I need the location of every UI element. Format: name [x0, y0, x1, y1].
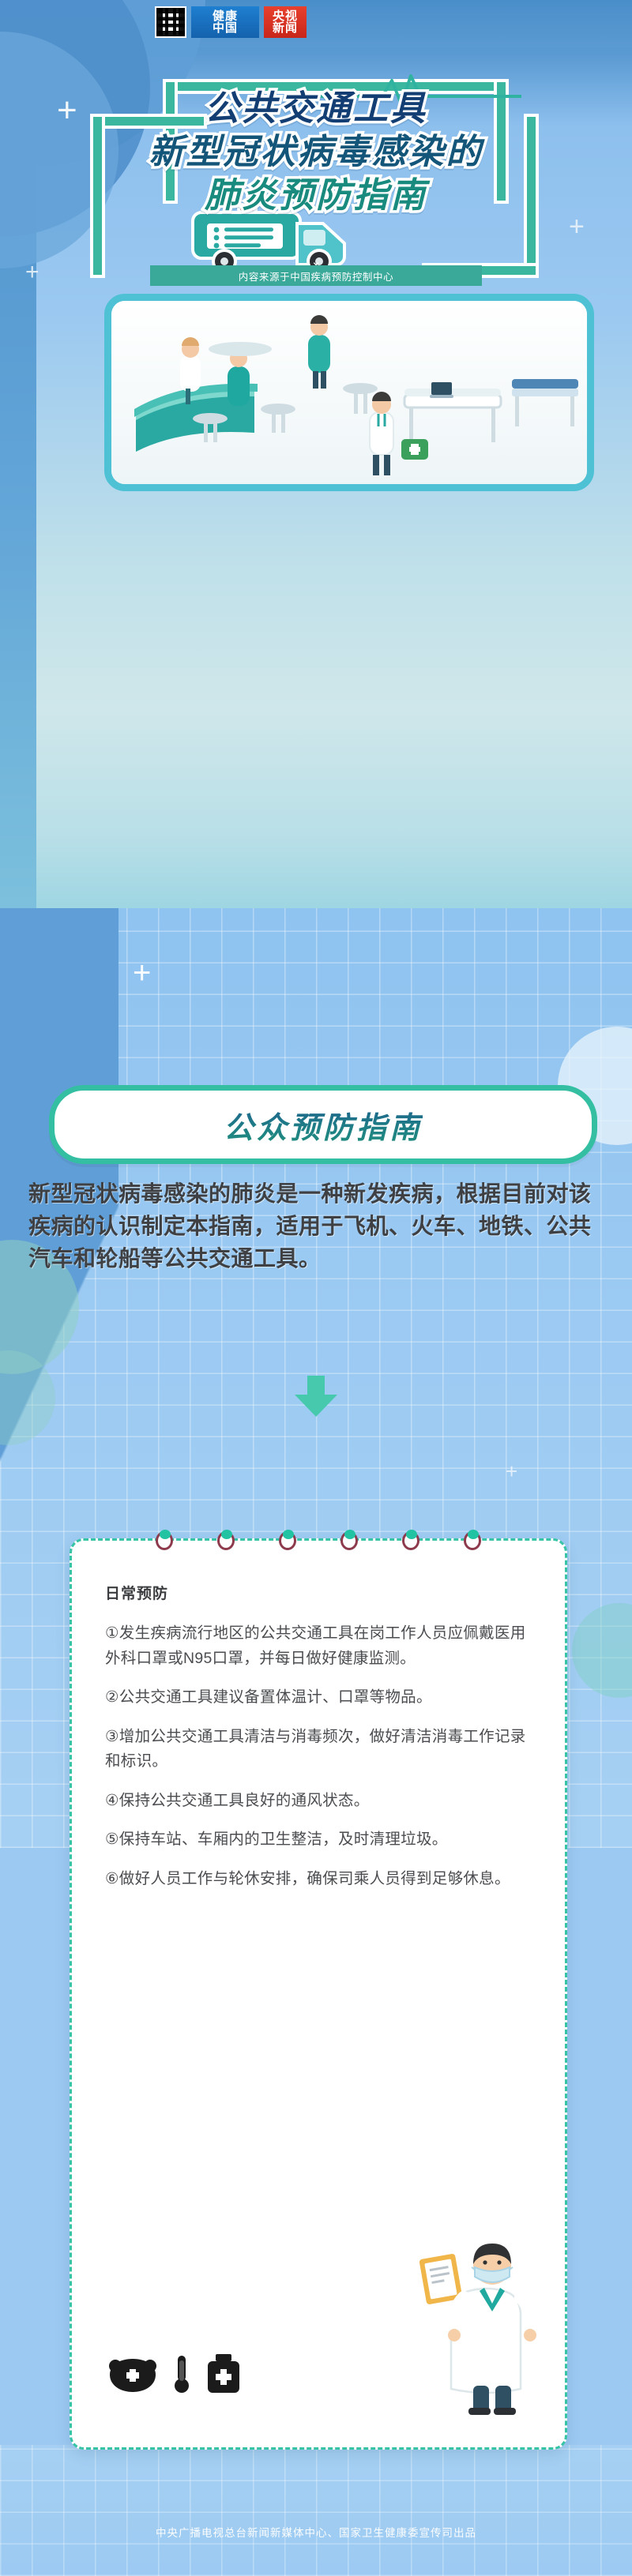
arrow-down-icon	[292, 1376, 340, 1418]
decor-circle-green	[572, 1603, 632, 1698]
binding-ring	[464, 1531, 481, 1550]
list-item: ⑤保持车站、车厢内的卫生整洁，及时清理垃圾。	[105, 1827, 532, 1853]
header-logo-bar: 健康 中国 央视 新闻	[155, 6, 307, 38]
binding-ring	[217, 1531, 235, 1550]
plus-decor-icon	[133, 957, 151, 989]
logo-health-china-line2: 中国	[213, 22, 238, 34]
card-icon-row	[107, 2353, 243, 2395]
prevention-card: 日常预防 ①发生疾病流行地区的公共交通工具在岗工作人员应佩戴医用外科口罩或N95…	[70, 1538, 567, 2450]
logo-health-china[interactable]: 健康 中国	[191, 6, 259, 38]
binding-ring	[340, 1531, 358, 1550]
intro-paragraph: 新型冠状病毒感染的肺炎是一种新发疾病，根据目前对该疾病的认识制定本指南，适用于飞…	[28, 1178, 613, 1275]
mask-icon	[107, 2356, 159, 2395]
logo-cctv-news-line1: 央视	[273, 10, 298, 22]
doctor-figure-illustration	[419, 2234, 538, 2416]
list-item: ④保持公共交通工具良好的通风状态。	[105, 1789, 532, 1814]
list-item: ①发生疾病流行地区的公共交通工具在岗工作人员应佩戴医用外科口罩或N95口罩，并每…	[105, 1621, 532, 1671]
plus-decor-icon	[569, 213, 585, 240]
source-note: 内容来源于中国疾病预防控制中心	[150, 265, 482, 286]
logo-cctv-news-line2: 新闻	[273, 22, 298, 34]
card-heading: 日常预防	[105, 1582, 168, 1603]
footer-band	[0, 2445, 632, 2576]
plus-decor-icon	[25, 261, 39, 284]
plus-decor-icon	[506, 1461, 517, 1481]
list-item: ②公共交通工具建议备置体温计、口罩等物品。	[105, 1685, 532, 1710]
footer-credit: 中央广播电视总台新闻新媒体中心、国家卫生健康委宣传司出品	[0, 2524, 632, 2540]
logo-health-china-line1: 健康	[213, 10, 238, 22]
card-binding-rings	[72, 1531, 565, 1552]
prevention-item-list: ①发生疾病流行地区的公共交通工具在岗工作人员应佩戴医用外科口罩或N95口罩，并每…	[105, 1621, 532, 1906]
infographic-poster: 健康 中国 央视 新闻 公共交通工具 新型冠状病毒感染的 肺炎预防指南	[0, 0, 632, 2576]
logo-cctv-news[interactable]: 央视 新闻	[264, 6, 307, 38]
hero-section: 健康 中国 央视 新闻 公共交通工具 新型冠状病毒感染的 肺炎预防指南	[0, 0, 632, 908]
section-heading-pill: 公众预防指南	[49, 1085, 597, 1164]
thermometer-icon	[171, 2354, 192, 2395]
title-line-3: 肺炎预防指南	[0, 175, 632, 216]
list-item: ③增加公共交通工具清洁与消毒频次，做好清洁消毒工作记录和标识。	[105, 1725, 532, 1774]
poster-title: 公共交通工具 新型冠状病毒感染的 肺炎预防指南	[0, 88, 632, 216]
section-heading-text: 公众预防指南	[224, 1103, 423, 1147]
list-item: ⑥做好人员工作与轮休安排，确保司乘人员得到足够休息。	[105, 1867, 532, 1892]
hospital-scene-illustration	[41, 294, 594, 491]
scene-figures	[41, 294, 594, 491]
title-line-2: 新型冠状病毒感染的	[0, 132, 632, 172]
qr-code-icon[interactable]	[155, 6, 186, 38]
binding-ring	[279, 1531, 296, 1550]
binding-ring	[402, 1531, 419, 1550]
binding-ring	[156, 1531, 173, 1550]
title-line-1: 公共交通工具	[0, 88, 632, 129]
medicine-bottle-icon	[205, 2353, 243, 2395]
